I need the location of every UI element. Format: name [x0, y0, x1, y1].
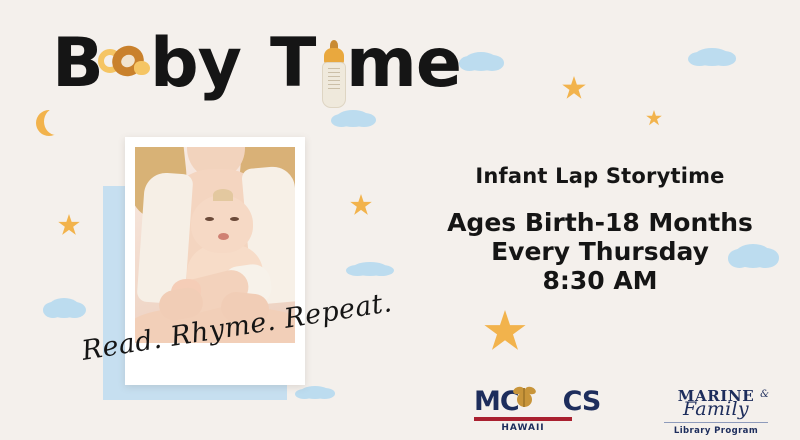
marine-divider-rule: [664, 422, 768, 423]
star-icon-left-upper: [58, 214, 80, 236]
marine-and-family-library-logo: MARINE & Family Library Program: [664, 386, 768, 436]
library-program-subtitle: Library Program: [664, 426, 768, 436]
star-icon-center-left: [350, 194, 372, 216]
star-icon-center-bottom: [484, 310, 526, 352]
event-time: 8:30 AM: [430, 266, 770, 295]
eagle-globe-anchor-icon: [515, 386, 534, 408]
mccs-hawaii-logo: MCOOCS HAWAII: [474, 388, 572, 433]
star-icon-right-upper: [646, 110, 662, 126]
event-ages: Ages Birth-18 Months: [430, 208, 770, 237]
ega-anchor: [523, 388, 525, 407]
bottle-measure-marks: [328, 68, 340, 92]
baby-time-poster: B by T me: [0, 0, 800, 440]
cloud-icon-center-mid: [352, 262, 388, 276]
marine-wordmark-row: MARINE &: [664, 386, 768, 401]
title-letter-t: T: [270, 30, 315, 98]
title-letters-by: by: [150, 30, 241, 98]
cloud-icon-top-center: [464, 52, 498, 71]
title-letters-me: me: [346, 30, 461, 98]
star-icon-top-right: [562, 76, 586, 100]
pacifier-nipple: [134, 61, 150, 75]
mccs-wordmark: MCOOCS: [474, 388, 572, 415]
pacifier-icon: [98, 44, 152, 90]
marine-wordmark: MARINE: [678, 387, 754, 405]
cloud-icon-top-right: [694, 48, 730, 66]
event-info-block: Infant Lap Storytime Ages Birth-18 Month…: [430, 164, 770, 295]
mccs-wordmark-right: CS: [563, 386, 601, 417]
ampersand-glyph: &: [760, 389, 769, 400]
event-headline: Infant Lap Storytime: [430, 164, 770, 188]
cloud-icon-top-left-mid: [336, 110, 370, 127]
baby-bottle-icon: [319, 40, 349, 110]
event-details: Ages Birth-18 Months Every Thursday 8:30…: [430, 208, 770, 295]
poster-title: B by T me: [46, 18, 426, 110]
cloud-icon-left-lower: [48, 298, 80, 318]
event-day: Every Thursday: [430, 237, 770, 266]
mccs-subtitle: HAWAII: [474, 423, 572, 433]
crescent-moon-icon: [36, 110, 62, 136]
cloud-icon-bottom-center: [300, 386, 330, 399]
mccs-red-bar: [474, 417, 572, 421]
title-letter-b: B: [52, 30, 103, 98]
